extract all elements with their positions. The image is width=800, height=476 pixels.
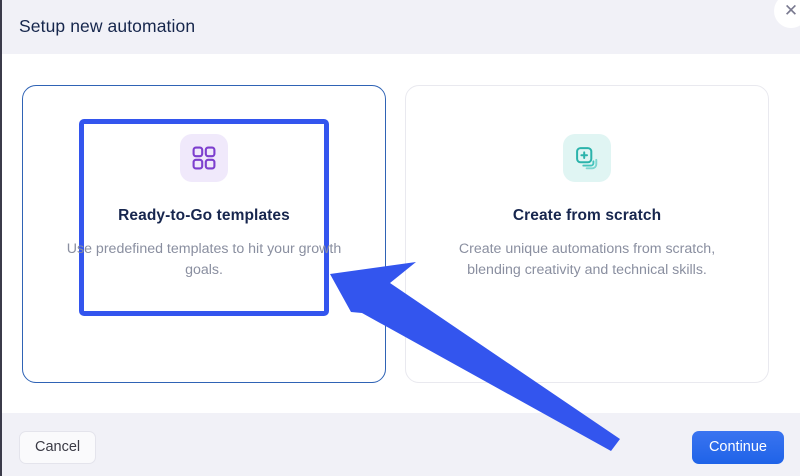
option-card-content: Ready-to-Go templates Use predefined tem… [23, 134, 385, 281]
cancel-button[interactable]: Cancel [19, 431, 96, 464]
option-card-content: Create from scratch Create unique automa… [406, 134, 768, 281]
dialog-header: Setup new automation ✕ [2, 0, 800, 54]
option-heading: Ready-to-Go templates [23, 207, 385, 225]
close-icon[interactable]: ✕ [774, 0, 800, 28]
dialog-footer: Cancel Continue [2, 413, 800, 476]
continue-button[interactable]: Continue [692, 431, 784, 464]
option-description: Create unique automations from scratch, … [406, 239, 768, 281]
setup-automation-dialog: Setup new automation ✕ Ready-t [0, 0, 800, 476]
dialog-body: Ready-to-Go templates Use predefined tem… [2, 54, 800, 413]
option-card-create-from-scratch[interactable]: Create from scratch Create unique automa… [405, 85, 769, 383]
duplicate-plus-icon [563, 134, 611, 182]
option-card-ready-to-go-templates[interactable]: Ready-to-Go templates Use predefined tem… [22, 85, 386, 383]
option-heading: Create from scratch [406, 207, 768, 225]
option-description: Use predefined templates to hit your gro… [23, 239, 385, 281]
grid-templates-icon [180, 134, 228, 182]
automation-options-row: Ready-to-Go templates Use predefined tem… [22, 85, 769, 383]
page-title: Setup new automation [19, 16, 195, 37]
